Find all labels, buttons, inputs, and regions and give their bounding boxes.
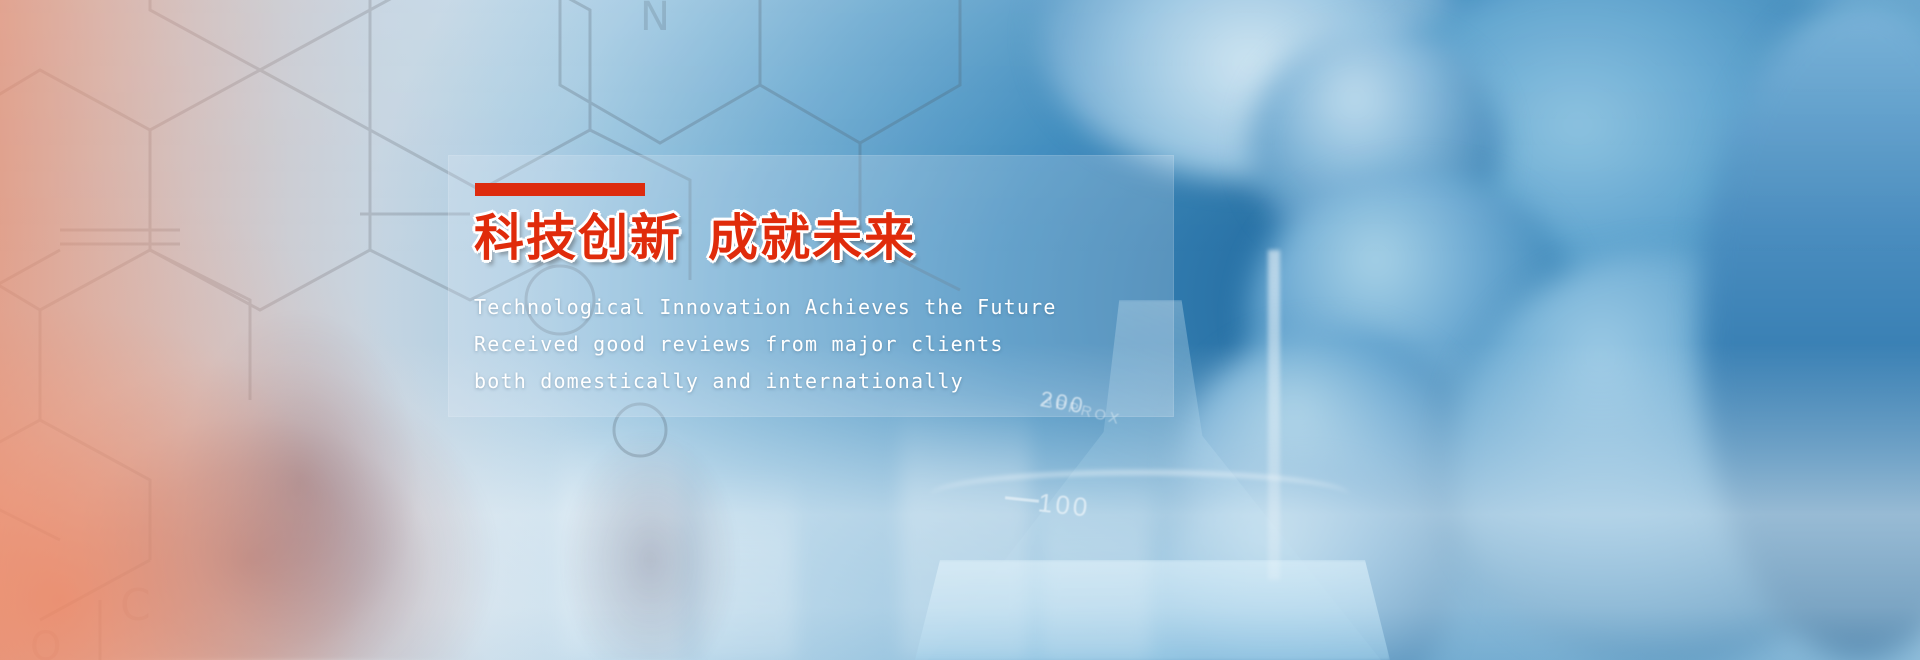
subtitle-line-3: both domestically and internationally: [474, 363, 1057, 400]
subtitle-line-1: Technological Innovation Achieves the Fu…: [474, 289, 1057, 326]
subtitle-block: Technological Innovation Achieves the Fu…: [474, 289, 1057, 400]
headline-part-2: 成就未来: [708, 209, 916, 267]
page-title: 科技创新成就未来: [474, 207, 916, 269]
subtitle-line-2: Received good reviews from major clients: [474, 326, 1057, 363]
accent-bar: [475, 183, 645, 196]
hero-banner: 200 APPROX 100: [0, 0, 1920, 660]
headline-part-1: 科技创新: [474, 209, 682, 267]
